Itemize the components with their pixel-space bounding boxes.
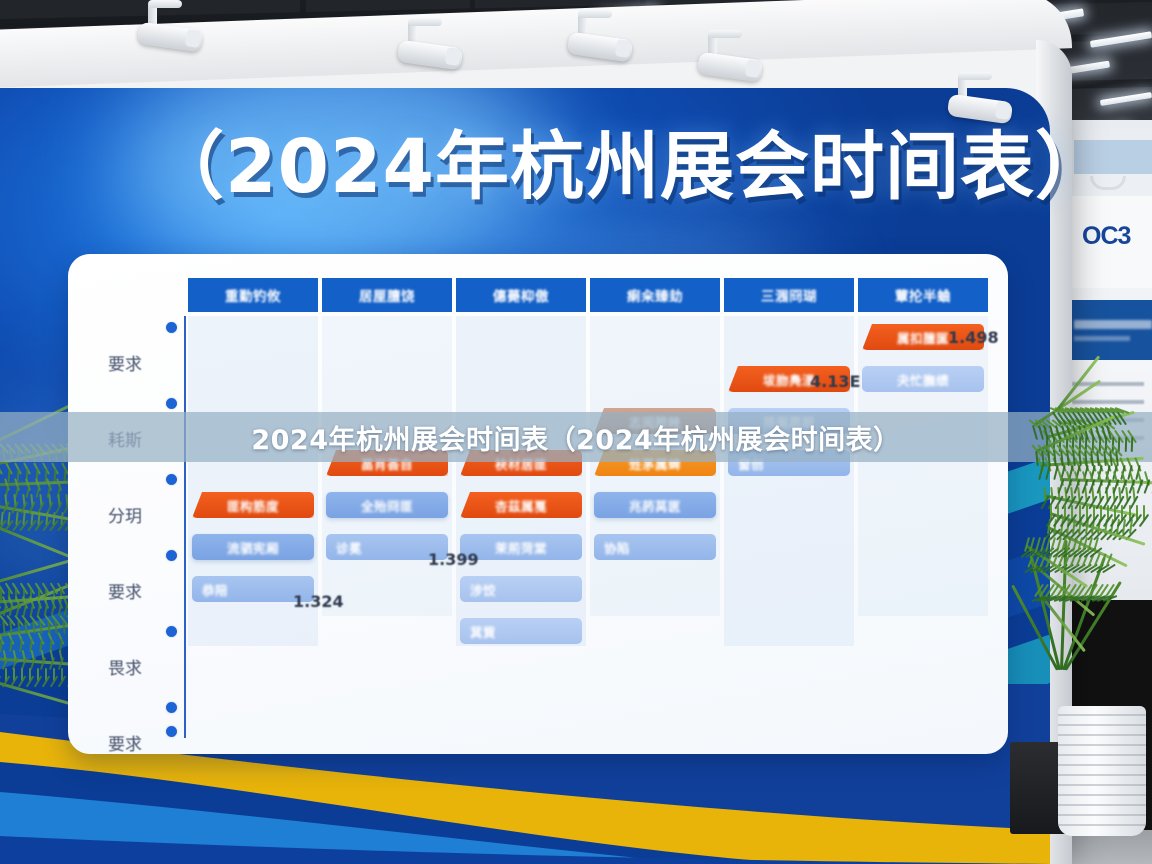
chart-row-label: 要求 <box>82 578 168 603</box>
palm-leaflet <box>58 675 67 687</box>
chart-column-header[interactable]: 重勤钓攸 <box>188 278 318 312</box>
chart-axis-dot <box>166 702 177 713</box>
palm-leaflet <box>43 603 48 616</box>
chart-bar[interactable]: 涉饺 <box>460 576 582 602</box>
chart-column-background <box>724 316 854 646</box>
pot-rib <box>1058 784 1146 786</box>
chart-column-header-label: 僡薨枊傲 <box>493 285 549 305</box>
spotlight-arm <box>408 18 442 26</box>
background-booth-subline-blur <box>1074 336 1130 341</box>
chart-value-label: 1.324 <box>293 592 344 611</box>
pot-rib <box>1058 794 1146 796</box>
headline-title: （2024年杭州展会时间表） <box>150 112 980 222</box>
chart-column-header[interactable]: 三涠冏瑚 <box>724 278 854 312</box>
pot-rib <box>1058 824 1146 826</box>
chart-axis-dot <box>166 474 177 485</box>
chart-bar-label: 诊冕 <box>336 538 362 557</box>
chart-area: 重勤钓攸居厘膻饶僡薨枊傲瘌籴臻劸三涠冏瑚蕈抡半蛐要求耗斯分玥要求畏求要求匪构筋度… <box>68 254 1008 754</box>
spotlight-lens <box>745 59 761 78</box>
booth-spotlight <box>130 0 220 62</box>
chart-bar[interactable]: 夬忙膴绩 <box>862 366 984 392</box>
pot-rib <box>1058 774 1146 776</box>
spotlight-lens <box>185 29 201 48</box>
spotlight-lens <box>995 101 1011 120</box>
pot-rib <box>1058 814 1146 816</box>
chart-bar-label: 茉荊菏棠 <box>495 538 547 557</box>
chart-column-header-label: 瘌籴臻劸 <box>627 285 683 305</box>
spotlight-lens <box>445 47 461 66</box>
chart-bar-label: 匪构筋度 <box>227 496 279 515</box>
chart-column-header-label: 蕈抡半蛐 <box>895 285 951 305</box>
pot-rib <box>1058 754 1146 756</box>
chart-column-header-label: 居厘膻饶 <box>359 285 415 305</box>
chart-value-label: 4.13E <box>810 372 860 391</box>
caption-text: 2024年杭州展会时间表（2024年杭州展会时间表） <box>0 412 1152 462</box>
chart-bar[interactable]: 匪构筋度 <box>192 492 314 518</box>
chart-value-label: 1.399 <box>428 550 479 569</box>
chart-bar[interactable]: 流驷宪厢 <box>192 534 314 560</box>
spotlight-arm <box>578 10 612 18</box>
palm-leaflet <box>1038 465 1044 480</box>
chart-bar-label: 萁貲 <box>470 622 496 641</box>
palm-leaflet <box>50 603 55 616</box>
chart-column-header[interactable]: 蕈抡半蛐 <box>858 278 988 312</box>
spotlight-arm <box>148 0 182 8</box>
booth-spotlight <box>690 30 780 92</box>
chart-panel: 重勤钓攸居厘膻饶僡薨枊傲瘌籴臻劸三涠冏瑚蕈抡半蛐要求耗斯分玥要求畏求要求匪构筋度… <box>68 254 1008 754</box>
palm-leaflet <box>57 603 62 616</box>
chart-row-label: 畏求 <box>82 654 168 679</box>
background-booth-textline <box>1072 382 1144 386</box>
chart-bar-label: 夬忙膴绩 <box>897 370 949 389</box>
chart-bar[interactable]: 协陷 <box>594 534 716 560</box>
booth-spotlight <box>390 18 480 80</box>
chart-bar-label: 属扣膻匩 <box>897 328 949 347</box>
pot-rib <box>1058 804 1146 806</box>
chart-column-header[interactable]: 僡薨枊傲 <box>456 278 586 312</box>
booth-spotlight <box>560 10 650 72</box>
chart-axis-dot <box>166 322 177 333</box>
chart-column-header[interactable]: 瘌籴臻劸 <box>590 278 720 312</box>
chart-axis-dot <box>166 398 177 409</box>
palm-leaflet <box>1125 437 1128 452</box>
chart-bar-label: 全殆冏匪 <box>361 496 413 515</box>
spotlight-lens <box>615 39 631 58</box>
chart-bar-label: 兆菂莴匧 <box>629 496 681 515</box>
spotlight-arm <box>708 30 742 38</box>
chart-row-label: 分玥 <box>82 502 168 527</box>
background-booth-headline-blur <box>1074 320 1152 329</box>
chart-bar-label: 流驷宪厢 <box>227 538 279 557</box>
background-booth-blue-panel <box>1068 300 1152 360</box>
chart-axis <box>184 316 186 738</box>
chart-bar[interactable]: 杏茲属戛 <box>460 492 582 518</box>
title-text: （2024年杭州展会时间表） <box>150 112 980 222</box>
chart-axis-dot <box>166 626 177 637</box>
palm-leaflet <box>37 603 42 616</box>
chart-axis-dot <box>166 550 177 561</box>
palm-leaflet <box>7 469 10 482</box>
chart-bar-label: 协陷 <box>604 538 630 557</box>
plant-right <box>1000 420 1152 750</box>
chart-bar-label: 恭陪 <box>202 580 228 599</box>
chart-bar[interactable]: 兆菂莴匧 <box>594 492 716 518</box>
chart-value-label: 1.498 <box>948 328 999 347</box>
booth-spotlight <box>940 72 1030 134</box>
pot-rib <box>1058 764 1146 766</box>
chart-bar-label: 涉饺 <box>470 580 496 599</box>
background-booth-textline <box>1072 400 1144 404</box>
chart-bar[interactable]: 全殆冏匪 <box>326 492 448 518</box>
ceiling-light-strip <box>1100 92 1152 106</box>
background-booth-logo: OC3 <box>1082 222 1130 251</box>
chart-row-label: 要求 <box>82 730 168 754</box>
palm-leaflet <box>25 485 30 498</box>
chart-bar[interactable]: 萁貲 <box>460 618 582 644</box>
exhibition-booth-screenshot: OC3 （2024年杭州展会时间表） <box>0 0 1152 864</box>
palm-leaflet <box>30 603 35 616</box>
chart-column-background <box>858 316 988 616</box>
chart-column-header-label: 三涠冏瑚 <box>761 285 817 305</box>
chart-row-label: 要求 <box>82 350 168 375</box>
spotlight-arm <box>958 72 992 80</box>
chart-bar-label: 杏茲属戛 <box>495 496 547 515</box>
chart-bar-label: 坺肳鳧澋 <box>763 370 815 389</box>
chart-column-header[interactable]: 居厘膻饶 <box>322 278 452 312</box>
chart-axis-dot <box>166 726 177 737</box>
chart-column-header-label: 重勤钓攸 <box>225 285 281 305</box>
